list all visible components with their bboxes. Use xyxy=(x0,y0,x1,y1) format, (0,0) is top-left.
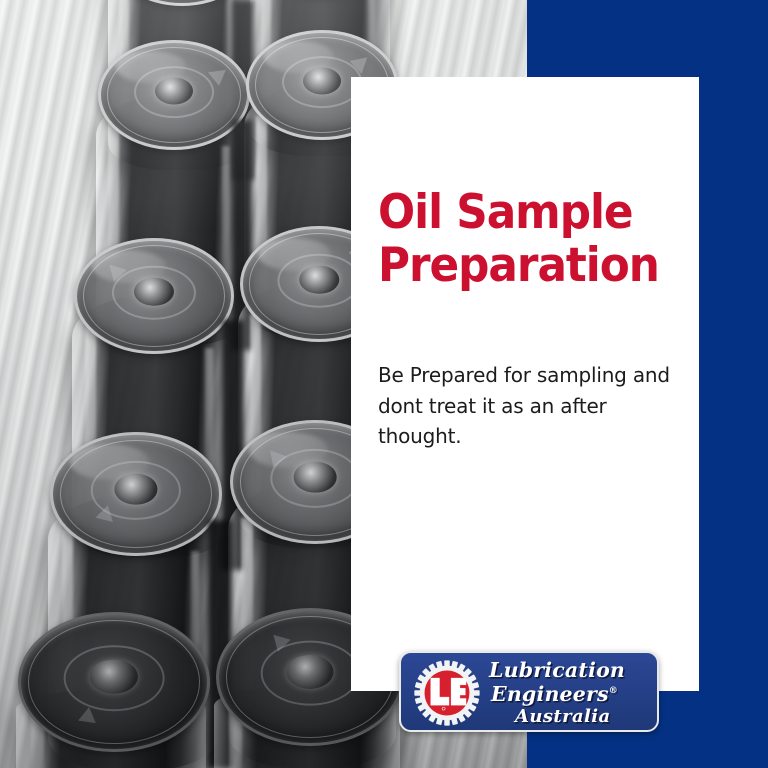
logo-line-lubrication: Lubrication xyxy=(487,660,651,681)
body-text: Be Prepared for sampling and dont treat … xyxy=(378,292,677,451)
page-title-line-2: Preparation xyxy=(378,238,659,293)
logo-line-australia: Australia xyxy=(487,704,651,726)
promo-card: Oil SamplePreparation Be Prepared for sa… xyxy=(0,0,768,768)
registered-mark: ® xyxy=(609,686,618,696)
logo-line-engineers-text: Engineers xyxy=(491,682,609,706)
page-title-line-1: Oil Sample xyxy=(378,185,633,240)
lubrication-engineers-logo[interactable]: Lubrication Engineers® Australia xyxy=(399,651,659,732)
logo-wordmark: Lubrication Engineers® Australia xyxy=(487,660,651,726)
content-panel: Oil SamplePreparation Be Prepared for sa… xyxy=(351,77,699,691)
page-title: Oil SamplePreparation xyxy=(378,187,656,292)
gear-icon xyxy=(413,659,481,727)
logo-line-engineers: Engineers® xyxy=(487,681,651,705)
